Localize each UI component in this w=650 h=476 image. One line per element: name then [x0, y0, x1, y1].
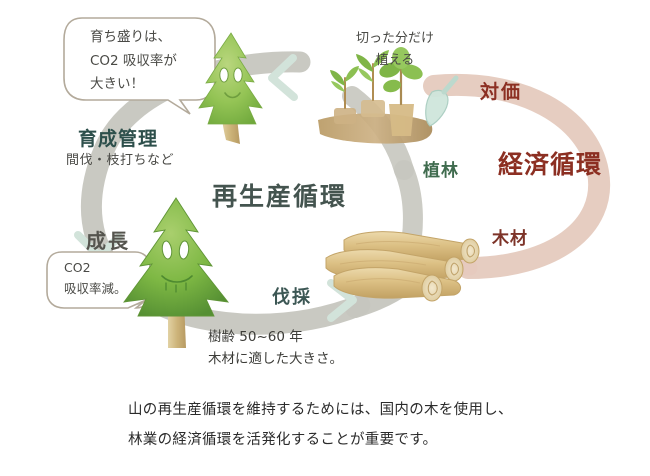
stage-label-logging: 伐採 — [272, 286, 312, 310]
economy-cycle-title: 経済循環 — [498, 148, 602, 182]
bubble-text-mature-tree: CO2 吸収率減。 — [64, 258, 127, 299]
infographic-figure: 再生産循環 経済循環 育成管理 間伐・枝打ちなど 成長 伐採 植林 対価 木材 … — [0, 0, 650, 476]
stage-label-planting: 植林 — [423, 160, 459, 183]
log-pile-illustration — [326, 232, 479, 301]
caption-line-2: 林業の経済循環を活発化することが重要です。 — [128, 426, 558, 456]
figure-caption: 山の再生産循環を維持するためには、国内の木を使用し、 林業の経済循環を活発化する… — [128, 396, 558, 455]
economy-label-payment: 対価 — [480, 80, 522, 106]
bubble-text-growing-tree: 育ち盛りは、 CO2 吸収率が 大きい！ — [90, 26, 177, 97]
regeneration-cycle-title: 再生産循環 — [212, 180, 347, 214]
stage-label-growth: 成長 — [86, 228, 130, 255]
economy-label-timber: 木材 — [492, 228, 528, 251]
note-plant-as-cut: 切った分だけ 植える — [356, 28, 434, 72]
note-tree-age: 樹齢 50~60 年 木材に適した大きさ。 — [208, 326, 343, 371]
caption-line-1: 山の再生産循環を維持するためには、国内の木を使用し、 — [128, 396, 558, 426]
stage-label-cultivation: 育成管理 — [78, 127, 158, 153]
stage-sublabel-cultivation: 間伐・枝打ちなど — [66, 152, 174, 170]
